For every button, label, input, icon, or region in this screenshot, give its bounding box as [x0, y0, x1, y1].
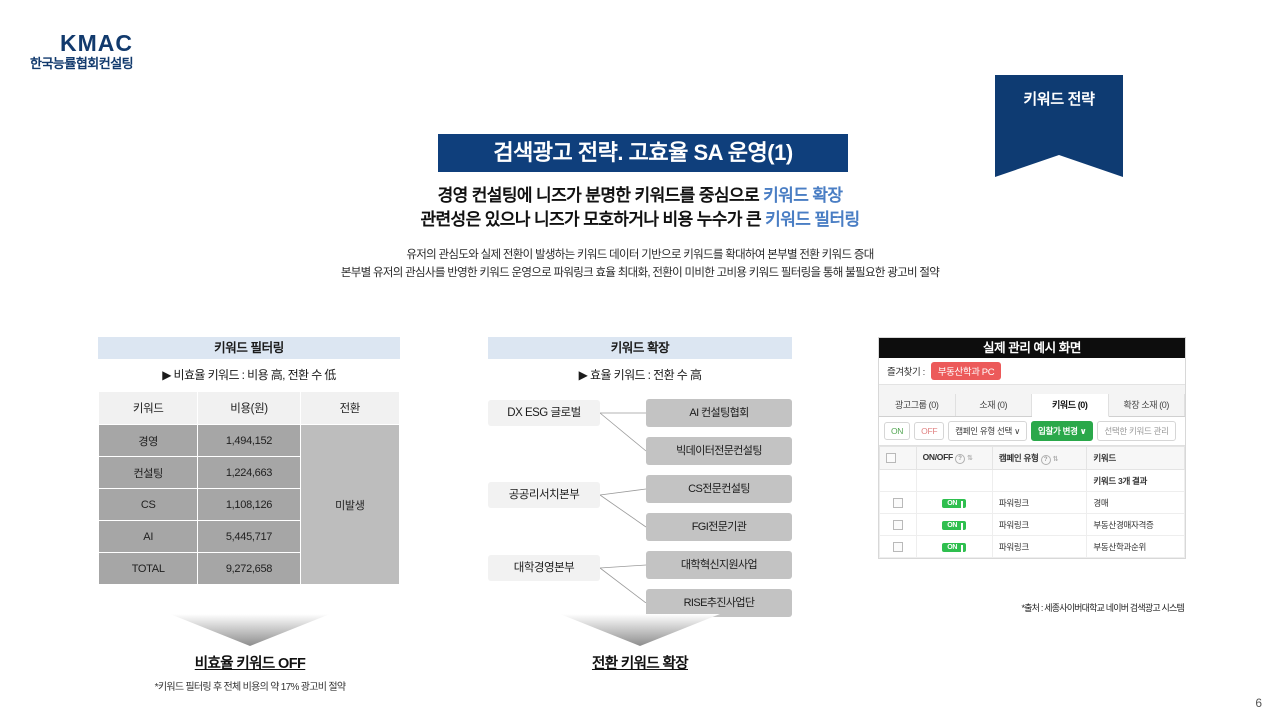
sort-icon[interactable]: ⇅: [1053, 456, 1059, 463]
favorites-label: 즐겨찾기 :: [887, 364, 925, 378]
cell-keyword: 경영: [99, 425, 198, 457]
screenshot-source-note: *출처 : 세종사이버대학교 네이버 검색광고 시스템: [878, 601, 1184, 614]
row-campaign-type: 파워링크: [992, 536, 1087, 558]
result-cell-empty-3: [992, 470, 1087, 492]
col-select-all: [880, 447, 917, 470]
keyword-filtering-panel: 키워드 필터링 ▶ 비효율 키워드 : 비용 高, 전환 수 低 키워드 비용(…: [98, 337, 400, 585]
table-header-row: 키워드 비용(원) 전환: [99, 392, 400, 425]
sort-icon[interactable]: ⇅: [967, 455, 973, 462]
selected-keyword-manage-button[interactable]: 선택한 키워드 관리: [1097, 421, 1175, 441]
panel-spacer: [879, 385, 1185, 394]
table-row: ON 파워링크 부동산학과순위: [880, 536, 1185, 558]
mid-panel-note: ▶ 효율 키워드 : 전환 수 高: [488, 366, 792, 383]
campaign-type-select-label: 캠페인 유형 선택: [955, 426, 1012, 436]
tab-keyword[interactable]: 키워드 (0): [1032, 394, 1109, 417]
row-checkbox-cell: [880, 514, 917, 536]
cell-keyword: AI: [99, 521, 198, 553]
info-icon: ?: [1041, 455, 1051, 465]
page-number: 6: [1255, 696, 1262, 710]
row-toggle-cell: ON: [916, 536, 992, 558]
table-row: ON 파워링크 경매: [880, 492, 1185, 514]
subtitle-line-2: 관련성은 있으나 니즈가 모호하거나 비용 누수가 큰 키워드 필터링: [0, 208, 1280, 232]
subtitle-line-1: 경영 컨설팅에 니즈가 분명한 키워드를 중심으로 키워드 확장: [0, 184, 1280, 208]
col-conversion: 전환: [300, 392, 399, 425]
row-campaign-type: 파워링크: [992, 514, 1087, 536]
row-keyword: 경매: [1087, 492, 1185, 514]
chevron-down-icon: ∨: [1014, 426, 1020, 436]
row-checkbox[interactable]: [893, 498, 903, 508]
favorites-bar: 즐겨찾기 : 부동산학과 PC: [879, 358, 1185, 385]
chevron-down-icon: ∨: [1080, 426, 1087, 436]
col-keyword: 키워드: [99, 392, 198, 425]
row-toggle-cell: ON: [916, 492, 992, 514]
down-arrow-icon: [130, 612, 370, 648]
subtitle-line-1-accent: 키워드 확장: [763, 186, 842, 205]
subtitle-line-1-plain: 경영 컨설팅에 니즈가 분명한 키워드를 중심으로: [438, 186, 764, 205]
cell-cost: 1,224,663: [198, 457, 300, 489]
row-campaign-type: 파워링크: [992, 492, 1087, 514]
bid-change-label: 입찰가 변경: [1038, 426, 1078, 436]
keyword-list-table: ON/OFF ? ⇅ 캠페인 유형 ? ⇅ 키워드 키워드 3개 결과: [879, 446, 1185, 558]
target-box-4: FGI전문기관: [646, 513, 792, 541]
table-row: ON 파워링크 부동산경매자격증: [880, 514, 1185, 536]
subtitle-line-2-accent: 키워드 필터링: [765, 210, 859, 229]
row-keyword: 부동산학과순위: [1087, 536, 1185, 558]
row-checkbox[interactable]: [893, 520, 903, 530]
favorites-badge[interactable]: 부동산학과 PC: [931, 362, 1001, 380]
on-toggle[interactable]: ON: [942, 543, 966, 552]
slide-description: 유저의 관심도와 실제 전환이 발생하는 키워드 데이터 기반으로 키워드를 확…: [0, 246, 1280, 282]
col-keyword: 키워드: [1087, 447, 1185, 470]
off-button[interactable]: OFF: [914, 422, 944, 440]
tab-extended-creative[interactable]: 확장 소재 (0): [1109, 394, 1186, 416]
campaign-type-select[interactable]: 캠페인 유형 선택 ∨: [948, 421, 1027, 441]
keyword-table-header-row: ON/OFF ? ⇅ 캠페인 유형 ? ⇅ 키워드: [880, 447, 1185, 470]
col-campaign-type[interactable]: 캠페인 유형 ? ⇅: [992, 447, 1087, 470]
description-line-1: 유저의 관심도와 실제 전환이 발생하는 키워드 데이터 기반으로 키워드를 확…: [0, 246, 1280, 264]
source-box-public-research: 공공리서치본부: [488, 482, 600, 508]
target-box-1: AI 컨설팅협회: [646, 399, 792, 427]
left-panel-header: 키워드 필터링: [98, 337, 400, 359]
subtitle-line-2-plain: 관련성은 있으나 니즈가 모호하거나 비용 누수가 큰: [420, 210, 765, 229]
ribbon-label: 키워드 전략: [1023, 91, 1094, 108]
row-toggle-cell: ON: [916, 514, 992, 536]
row-keyword: 부동산경매자격증: [1087, 514, 1185, 536]
logo-wordmark: KMAC: [30, 32, 230, 55]
target-box-3: CS전문컨설팅: [646, 475, 792, 503]
row-checkbox-cell: [880, 536, 917, 558]
col-on-off[interactable]: ON/OFF ? ⇅: [916, 447, 992, 470]
cell-keyword: CS: [99, 489, 198, 521]
on-button[interactable]: ON: [884, 422, 910, 440]
cell-cost: 5,445,717: [198, 521, 300, 553]
slide-title: 검색광고 전략. 고효율 SA 운영(1): [438, 134, 848, 172]
cell-cost: 9,272,658: [198, 553, 300, 585]
description-line-2: 본부별 유저의 관심사를 반영한 키워드 운영으로 파워링크 효율 최대화, 전…: [0, 264, 1280, 282]
col-cost: 비용(원): [198, 392, 300, 425]
bottom-left-caption: *키워드 필터링 후 전체 비용의 약 17% 광고비 절약: [130, 678, 370, 693]
screenshot-title: 실제 관리 예시 화면: [879, 338, 1185, 358]
source-box-university-mgmt: 대학경영본부: [488, 555, 600, 581]
cell-keyword: TOTAL: [99, 553, 198, 585]
col-on-off-label: ON/OFF: [923, 452, 953, 462]
cell-keyword: 컨설팅: [99, 457, 198, 489]
select-all-checkbox[interactable]: [886, 453, 896, 463]
keyword-expansion-diagram: DX ESG 글로벌 공공리서치본부 대학경영본부 AI 컨설팅협회 빅데이터전…: [488, 391, 792, 603]
keyword-filtering-table: 키워드 비용(원) 전환 경영 1,494,152 미발생 컨설팅 1,224,…: [98, 391, 400, 585]
kmac-logo: KMAC 한국능률협회컨설팅: [30, 32, 230, 71]
slide-subtitle: 경영 컨설팅에 니즈가 분명한 키워드를 중심으로 키워드 확장 관련성은 있으…: [0, 184, 1280, 232]
col-campaign-type-label: 캠페인 유형: [999, 453, 1039, 463]
left-panel-note: ▶ 비효율 키워드 : 비용 高, 전환 수 低: [98, 366, 400, 383]
result-count-label: 키워드 3개 결과: [1087, 470, 1185, 492]
result-cell-empty-1: [880, 470, 917, 492]
source-box-dx-esg-global: DX ESG 글로벌: [488, 400, 600, 426]
row-checkbox[interactable]: [893, 542, 903, 552]
keyword-result-row: 키워드 3개 결과: [880, 470, 1185, 492]
bottom-mid-title: 전환 키워드 확장: [525, 652, 755, 673]
table-row: 경영 1,494,152 미발생: [99, 425, 400, 457]
down-arrow-icon: [525, 612, 755, 648]
cell-cost: 1,108,126: [198, 489, 300, 521]
result-cell-empty-2: [916, 470, 992, 492]
screenshot-tabs: 광고그룹 (0) 소재 (0) 키워드 (0) 확장 소재 (0): [879, 394, 1185, 417]
on-toggle[interactable]: ON: [942, 499, 966, 508]
on-toggle[interactable]: ON: [942, 521, 966, 530]
logo-subtitle: 한국능률협회컨설팅: [30, 57, 230, 71]
target-box-2: 빅데이터전문컨설팅: [646, 437, 792, 465]
keyword-expansion-panel: 키워드 확장 ▶ 효율 키워드 : 전환 수 高 DX ESG 글로벌 공공리서…: [488, 337, 792, 603]
bottom-left-callout: 비효율 키워드 OFF *키워드 필터링 후 전체 비용의 약 17% 광고비 …: [130, 612, 370, 693]
cell-conversion-merged: 미발생: [300, 425, 399, 585]
admin-screenshot-panel: 실제 관리 예시 화면 즐겨찾기 : 부동산학과 PC 광고그룹 (0) 소재 …: [878, 337, 1186, 559]
bottom-left-title: 비효율 키워드 OFF: [130, 652, 370, 673]
row-checkbox-cell: [880, 492, 917, 514]
bid-change-button[interactable]: 입찰가 변경 ∨: [1031, 421, 1093, 441]
tab-ad-group[interactable]: 광고그룹 (0): [879, 394, 956, 416]
bottom-mid-callout: 전환 키워드 확장: [525, 612, 755, 673]
info-icon: ?: [955, 454, 965, 464]
screenshot-toolbar: ON OFF 캠페인 유형 선택 ∨ 입찰가 변경 ∨ 선택한 키워드 관리: [879, 417, 1185, 446]
mid-panel-header: 키워드 확장: [488, 337, 792, 359]
section-ribbon-badge: 키워드 전략: [995, 75, 1123, 155]
target-box-5: 대학혁신지원사업: [646, 551, 792, 579]
cell-cost: 1,494,152: [198, 425, 300, 457]
tab-creative[interactable]: 소재 (0): [956, 394, 1033, 416]
